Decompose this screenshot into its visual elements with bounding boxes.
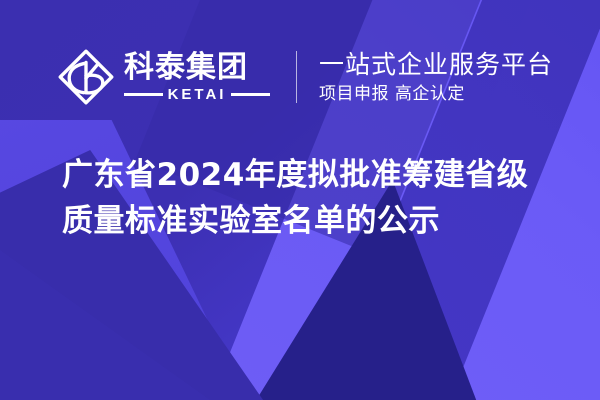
logo-wordmark: 科泰集团 KETAI [124,52,270,102]
tagline-block: 一站式企业服务平台 项目申报 高企认定 [319,46,553,108]
logo-company-name-cn: 科泰集团 [124,52,270,84]
ketai-diamond-kd-monogram-icon [58,49,114,105]
logo-company-name-en: KETAI [163,87,232,102]
banner-header: 科泰集团 KETAI 一站式企业服务平台 项目申报 高企认定 [58,44,553,110]
header-divider [296,51,297,103]
tagline-primary: 一站式企业服务平台 [319,50,553,79]
banner-title: 广东省2024年度拟批准筹建省级质量标准实验室名单的公示 [62,152,552,244]
ketai-logo: 科泰集团 KETAI [58,44,270,110]
promo-banner: 科泰集团 KETAI 一站式企业服务平台 项目申报 高企认定 广东省2024年度… [0,0,600,400]
logo-company-name-en-row: KETAI [124,87,270,102]
logo-rule-left [124,93,163,96]
logo-rule-right [231,93,270,96]
tagline-secondary: 项目申报 高企认定 [319,83,553,105]
